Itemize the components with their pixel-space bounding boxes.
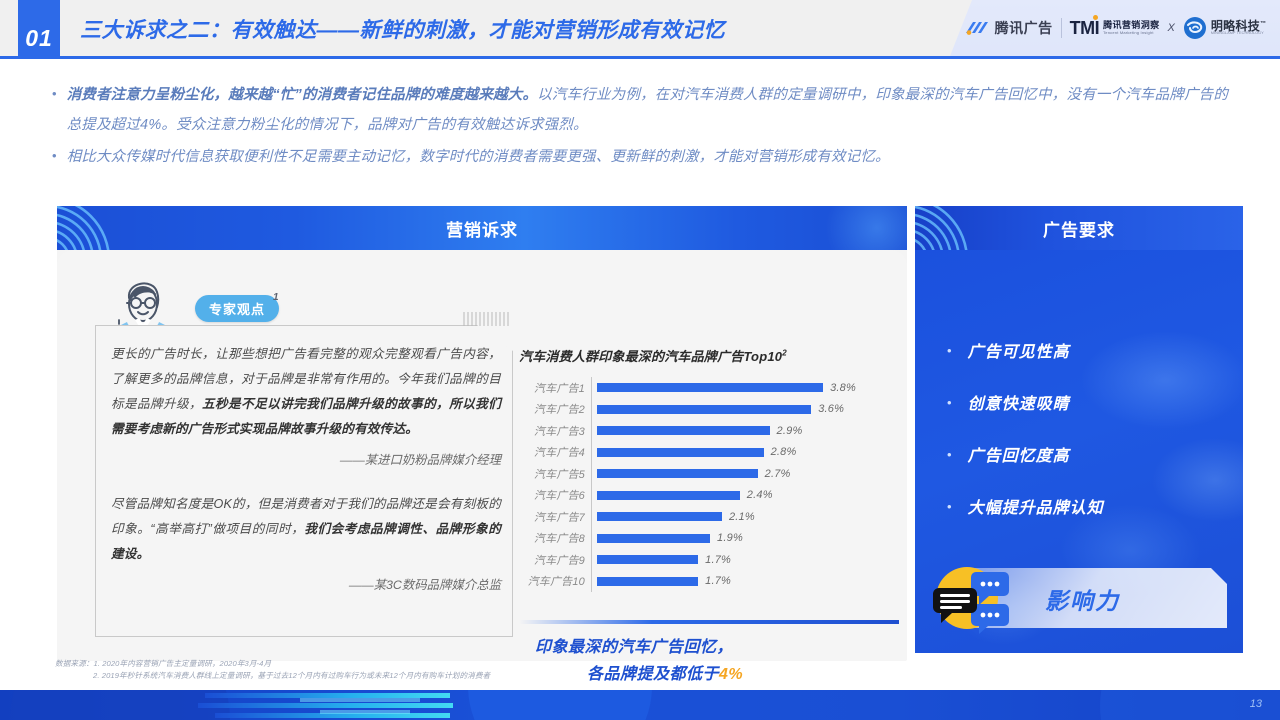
ad-requirement-label: 创意快速吸睛 [968, 390, 1070, 414]
ad-requirements-list: •广告可见性高•创意快速吸睛•广告回忆度高•大幅提升品牌认知 [947, 338, 1217, 546]
content-card: 专家观点 1 更长的广告时长，让那些想把广告看完整的观众完整观看广告内容，了解更… [57, 250, 907, 661]
ad-requirements-panel: 广告要求 •广告可见性高•创意快速吸睛•广告回忆度高•大幅提升品牌认知 [915, 206, 1243, 653]
slide-root: 01 三大诉求之二：有效触达——新鲜的刺激，才能对营销形成有效记忆 腾讯广告 T… [0, 0, 1280, 720]
hatch-decoration-icon [463, 312, 515, 326]
data-source-line-2: 2. 2019年秒针系统汽车消费人群线上定量调研，基于过去12个月内有过购车行为… [55, 670, 875, 682]
mininglamp-logo: 明略科技™ MININGLAMP TECHNOLOGY [1183, 16, 1267, 40]
bullet-dot-icon: • [947, 499, 952, 514]
marketing-appeal-title: 营销诉求 [446, 216, 518, 241]
chart-row: 汽车广告91.7% [519, 549, 889, 571]
chart-value-label: 3.8% [830, 382, 856, 394]
chart-bar-zone: 1.9% [591, 532, 889, 544]
expert-quote-1-attribution: ——某进口奶粉品牌媒介经理 [111, 448, 501, 472]
slide-header: 01 三大诉求之二：有效触达——新鲜的刺激，才能对营销形成有效记忆 腾讯广告 T… [0, 0, 1280, 56]
chart-bar-zone: 2.4% [591, 489, 889, 501]
chart-value-label: 2.4% [747, 489, 773, 501]
chart-bar [597, 555, 698, 564]
data-source-note: 数据来源：1. 2020年内容营销广告主定量调研，2020年3月-4月 2. 2… [55, 658, 875, 682]
chart-row: 汽车广告42.8% [519, 442, 889, 464]
influence-badge: 影响力 [927, 562, 1239, 634]
footer-decoration-icon [0, 690, 1280, 720]
logo-divider [1061, 18, 1062, 38]
intro-bullet-2-text: 相比大众传媒时代信息获取便利性不足需要主动记忆，数字时代的消费者需要更强、更新鲜… [67, 142, 890, 172]
chart-bar-zone: 3.8% [591, 382, 889, 394]
chart-row: 汽车广告13.8% [519, 377, 889, 399]
expert-quote-2-attribution: ——某3C数码品牌媒介总监 [111, 573, 501, 597]
intro-bullet-2: • 相比大众传媒时代信息获取便利性不足需要主动记忆，数字时代的消费者需要更强、更… [52, 142, 1242, 172]
data-source-line-1: 数据来源：1. 2020年内容营销广告主定量调研，2020年3月-4月 [55, 658, 875, 670]
chart-bar-zone: 2.1% [591, 511, 889, 523]
chart-value-label: 2.1% [729, 511, 755, 523]
logo-group: 腾讯广告 TMI 腾讯营销洞察 Tencent Marketing Insigh… [950, 0, 1280, 56]
bullet-dot-icon: • [947, 395, 952, 410]
mininglamp-english-label: MININGLAMP TECHNOLOGY [1211, 32, 1267, 36]
chart-category-label: 汽车广告8 [519, 530, 591, 546]
chart-category-label: 汽车广告9 [519, 552, 591, 568]
chart-category-label: 汽车广告3 [519, 423, 591, 439]
chart-value-label: 2.7% [765, 468, 791, 480]
chart-category-label: 汽车广告7 [519, 509, 591, 525]
chart-row: 汽车广告32.9% [519, 420, 889, 442]
intro-bullet-1-text: 消费者注意力呈粉尘化，越来越“忙”的消费者记住品牌的难度越来越大。以汽车行业为例… [67, 80, 1242, 140]
chat-bubbles-icon [927, 562, 1023, 634]
chart-title: 汽车消费人群印象最深的汽车品牌广告Top102 [519, 346, 889, 365]
tencent-ads-logo: 腾讯广告 [964, 18, 1053, 38]
chart-row: 汽车广告101.7% [519, 571, 889, 593]
chart-bar-zone: 3.6% [591, 403, 889, 415]
conclusion-line-1: 印象最深的汽车广告回忆， [519, 634, 899, 661]
ad-requirement-item-4: •大幅提升品牌认知 [947, 494, 1217, 518]
ad-requirement-item-2: •创意快速吸睛 [947, 390, 1217, 414]
ad-requirements-banner: 广告要求 [915, 206, 1243, 250]
tmi-dot-icon [1093, 15, 1098, 20]
bullet-dot-icon: • [52, 142, 57, 170]
chart-row: 汽车广告52.7% [519, 463, 889, 485]
chart-bar [597, 491, 740, 500]
chart-row: 汽车广告62.4% [519, 485, 889, 507]
chart-bar-zone: 1.7% [591, 575, 889, 587]
chart-row: 汽车广告81.9% [519, 528, 889, 550]
page-number: 13 [1250, 698, 1262, 710]
header-underline [0, 56, 1280, 59]
chart-bar [597, 534, 710, 543]
ad-requirement-item-3: •广告回忆度高 [947, 442, 1217, 466]
expert-opinion-superscript: 1 [273, 292, 279, 303]
chart-category-label: 汽车广告4 [519, 444, 591, 460]
top10-bar-chart: 汽车消费人群印象最深的汽车品牌广告Top102 汽车广告13.8%汽车广告23.… [519, 346, 889, 606]
chart-value-label: 2.8% [771, 446, 797, 458]
chart-bar-zone: 2.8% [591, 446, 889, 458]
page-title: 三大诉求之二：有效触达——新鲜的刺激，才能对营销形成有效记忆 [80, 14, 725, 44]
chart-value-label: 2.9% [777, 425, 803, 437]
banner-stripes-decoration-icon [57, 206, 197, 250]
chart-category-label: 汽车广告5 [519, 466, 591, 482]
ad-requirement-label: 广告可见性高 [968, 338, 1070, 362]
chart-value-label: 3.6% [818, 403, 844, 415]
tmi-logo: TMI 腾讯营销洞察 Tencent Marketing Insight [1070, 18, 1160, 39]
banner-glow-decoration [817, 206, 907, 250]
chart-value-label: 1.9% [717, 532, 743, 544]
banner-stripes-decoration-icon [915, 206, 1055, 250]
chart-row: 汽车广告23.6% [519, 399, 889, 421]
mininglamp-text-block: 明略科技™ MININGLAMP TECHNOLOGY [1211, 20, 1267, 36]
chart-bar [597, 469, 758, 478]
chart-bar [597, 512, 722, 521]
expert-opinion-badge: 专家观点 [195, 295, 279, 322]
chart-category-label: 汽车广告2 [519, 401, 591, 417]
marketing-appeal-panel: 营销诉求 [57, 206, 907, 661]
chart-bar-zone: 2.7% [591, 468, 889, 480]
chart-row: 汽车广告72.1% [519, 506, 889, 528]
chart-axis-line [591, 377, 592, 592]
mininglamp-mark-icon [1183, 16, 1207, 40]
chart-value-label: 1.7% [705, 575, 731, 587]
ad-requirements-title: 广告要求 [1043, 216, 1115, 241]
intro-bullets: • 消费者注意力呈粉尘化，越来越“忙”的消费者记住品牌的难度越来越大。以汽车行业… [52, 80, 1242, 174]
tencent-ads-mark-icon [964, 19, 990, 37]
influence-label: 影响力 [1045, 582, 1120, 616]
tencent-ads-label: 腾讯广告 [995, 18, 1053, 38]
chart-bar [597, 448, 764, 457]
ad-requirement-label: 广告回忆度高 [968, 442, 1070, 466]
chart-bar-zone: 2.9% [591, 425, 889, 437]
tmi-mark-label: TMI [1070, 18, 1100, 39]
ad-requirement-item-1: •广告可见性高 [947, 338, 1217, 362]
intro-bullet-1: • 消费者注意力呈粉尘化，越来越“忙”的消费者记住品牌的难度越来越大。以汽车行业… [52, 80, 1242, 140]
chart-bar [597, 426, 770, 435]
section-number-badge: 01 [18, 0, 60, 56]
expert-quotes: 更长的广告时长，让那些想把广告看完整的观众完整观看广告内容，了解更多的品牌信息，… [111, 342, 501, 617]
chart-category-label: 汽车广告6 [519, 487, 591, 503]
marketing-appeal-banner: 营销诉求 [57, 206, 907, 250]
logo-x-separator: X [1168, 22, 1175, 34]
chart-bar [597, 383, 823, 392]
tmi-english-label: Tencent Marketing Insight [1103, 31, 1159, 35]
marketing-appeal-body: 专家观点 1 更长的广告时长，让那些想把广告看完整的观众完整观看广告内容，了解更… [57, 250, 907, 661]
tmi-chinese-block: 腾讯营销洞察 Tencent Marketing Insight [1103, 21, 1159, 35]
ad-requirement-label: 大幅提升品牌认知 [968, 494, 1104, 518]
chart-bar [597, 577, 698, 586]
chart-category-label: 汽车广告1 [519, 380, 591, 396]
chart-rows: 汽车广告13.8%汽车广告23.6%汽车广告32.9%汽车广告42.8%汽车广告… [519, 377, 889, 592]
chart-bar-zone: 1.7% [591, 554, 889, 566]
bullet-dot-icon: • [947, 447, 952, 462]
chart-bar [597, 405, 811, 414]
bullet-dot-icon: • [52, 80, 57, 108]
chart-value-label: 1.7% [705, 554, 731, 566]
chart-category-label: 汽车广告10 [519, 573, 591, 589]
slide-footer [0, 690, 1280, 720]
ad-requirements-body: •广告可见性高•创意快速吸睛•广告回忆度高•大幅提升品牌认知 [915, 250, 1243, 653]
bullet-dot-icon: • [947, 343, 952, 358]
expert-quote-2-text: 尽管品牌知名度是OK的，但是消费者对于我们的品牌还是会有刻板的印象。“高举高打”… [111, 492, 501, 567]
expert-quote-1-text: 更长的广告时长，让那些想把广告看完整的观众完整观看广告内容，了解更多的品牌信息，… [111, 342, 501, 442]
